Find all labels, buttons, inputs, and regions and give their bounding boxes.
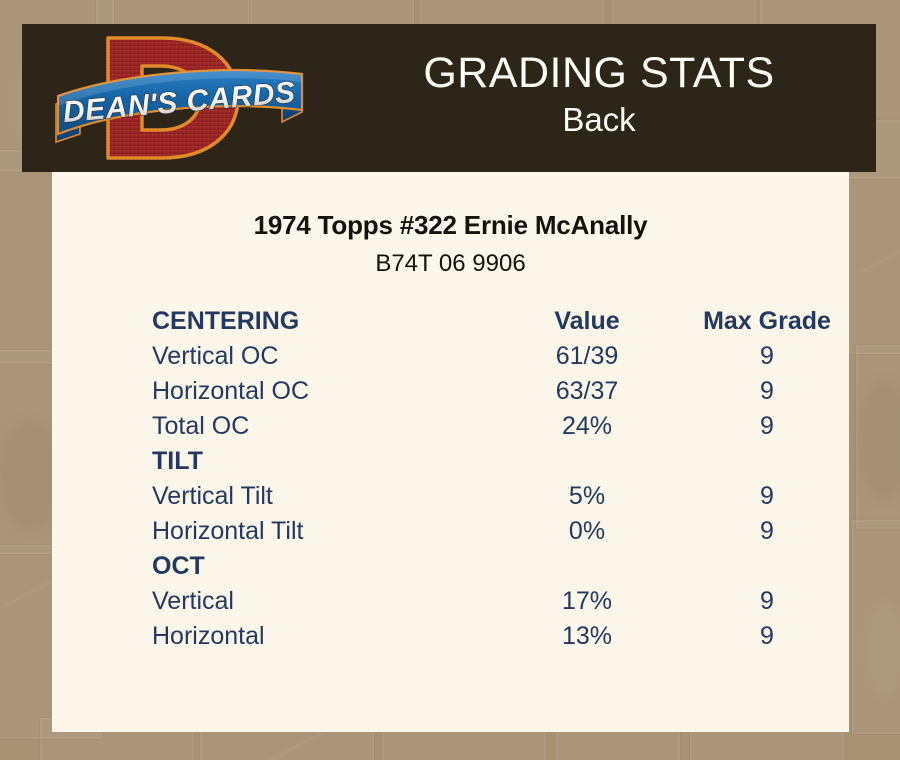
row-label: Vertical OC xyxy=(152,339,492,374)
content-panel: 1974 Topps #322 Ernie McAnally B74T 06 9… xyxy=(52,172,849,732)
page-title: GRADING STATS xyxy=(423,51,774,96)
row-value: 63/37 xyxy=(492,374,682,409)
row-label: Horizontal OC xyxy=(152,374,492,409)
deans-cards-logo[interactable]: DEAN'S CARDS xyxy=(50,30,310,166)
row-value: 13% xyxy=(492,619,682,654)
column-header-max-grade: Max Grade xyxy=(682,304,852,339)
table-row: Horizontal OC63/379 xyxy=(152,374,852,409)
row-max-grade: 9 xyxy=(682,619,852,654)
row-value: 0% xyxy=(492,514,682,549)
table-row: Total OC24%9 xyxy=(152,409,852,444)
column-header-value: Value xyxy=(492,304,682,339)
row-value xyxy=(492,549,682,584)
table-row: Horizontal13%9 xyxy=(152,619,852,654)
table-row: Horizontal Tilt0%9 xyxy=(152,514,852,549)
page-header: DEAN'S CARDS GRADING STATS Back xyxy=(22,24,876,172)
table-row: Vertical OC61/399 xyxy=(152,339,852,374)
table-row: Vertical17%9 xyxy=(152,584,852,619)
header-title-block: GRADING STATS Back xyxy=(322,24,876,172)
card-title: 1974 Topps #322 Ernie McAnally xyxy=(52,210,849,241)
row-max-grade: 9 xyxy=(682,409,852,444)
row-max-grade: 9 xyxy=(682,479,852,514)
row-max-grade xyxy=(682,549,852,584)
row-label: Total OC xyxy=(152,409,492,444)
table-header-row: CENTERINGValueMax Grade xyxy=(152,304,852,339)
row-label: OCT xyxy=(152,549,492,584)
card-serial-number: B74T 06 9906 xyxy=(52,250,849,278)
grading-stats-table: CENTERINGValueMax GradeVertical OC61/399… xyxy=(152,304,852,654)
row-value: 5% xyxy=(492,479,682,514)
table-row: Vertical Tilt5%9 xyxy=(152,479,852,514)
row-value: 17% xyxy=(492,584,682,619)
page-subtitle: Back xyxy=(562,102,635,138)
row-max-grade: 9 xyxy=(682,514,852,549)
row-label: Vertical Tilt xyxy=(152,479,492,514)
row-max-grade: 9 xyxy=(682,374,852,409)
row-value xyxy=(492,444,682,479)
row-label: TILT xyxy=(152,444,492,479)
table-section-row: OCT xyxy=(152,549,852,584)
row-label: Horizontal Tilt xyxy=(152,514,492,549)
row-label: Horizontal xyxy=(152,619,492,654)
grading-stats-body: CENTERINGValueMax GradeVertical OC61/399… xyxy=(152,304,852,654)
row-label: Vertical xyxy=(152,584,492,619)
column-header-label: CENTERING xyxy=(152,304,492,339)
row-value: 24% xyxy=(492,409,682,444)
row-max-grade xyxy=(682,444,852,479)
row-value: 61/39 xyxy=(492,339,682,374)
row-max-grade: 9 xyxy=(682,584,852,619)
row-max-grade: 9 xyxy=(682,339,852,374)
table-section-row: TILT xyxy=(152,444,852,479)
